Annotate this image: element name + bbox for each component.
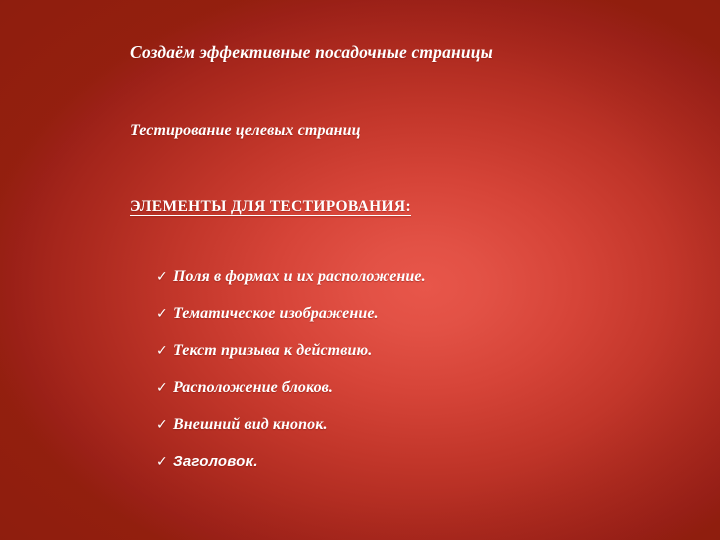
- list-item: ✓ Заголовок.: [156, 453, 426, 490]
- checkmark-icon: ✓: [156, 418, 173, 432]
- list-item-label: Тематическое изображение.: [173, 305, 379, 323]
- list-item: ✓ Поля в формах и их расположение.: [156, 268, 426, 305]
- checkmark-icon: ✓: [156, 455, 173, 469]
- list-item-label: Внешний вид кнопок.: [173, 416, 328, 434]
- slide-title-secondary: Тестирование целевых страниц: [130, 122, 361, 140]
- slide-content: Создаём эффективные посадочные страницы …: [0, 0, 720, 540]
- list-item: ✓ Текст призыва к действию.: [156, 342, 426, 379]
- checkmark-icon: ✓: [156, 381, 173, 395]
- list-item: ✓ Тематическое изображение.: [156, 305, 426, 342]
- presentation-slide: Создаём эффективные посадочные страницы …: [0, 0, 720, 540]
- list-item-label: Заголовок.: [173, 453, 258, 470]
- checkmark-icon: ✓: [156, 270, 173, 284]
- list-item-label: Расположение блоков.: [173, 379, 333, 397]
- checkmark-icon: ✓: [156, 344, 173, 358]
- section-heading: ЭЛЕМЕНТЫ ДЛЯ ТЕСТИРОВАНИЯ:: [130, 198, 411, 216]
- list-item-label: Поля в формах и их расположение.: [173, 268, 426, 286]
- testing-elements-list: ✓ Поля в формах и их расположение. ✓ Тем…: [156, 268, 426, 490]
- list-item-label: Текст призыва к действию.: [173, 342, 372, 360]
- list-item: ✓ Внешний вид кнопок.: [156, 416, 426, 453]
- checkmark-icon: ✓: [156, 307, 173, 321]
- list-item: ✓ Расположение блоков.: [156, 379, 426, 416]
- slide-title-primary: Создаём эффективные посадочные страницы: [130, 42, 493, 63]
